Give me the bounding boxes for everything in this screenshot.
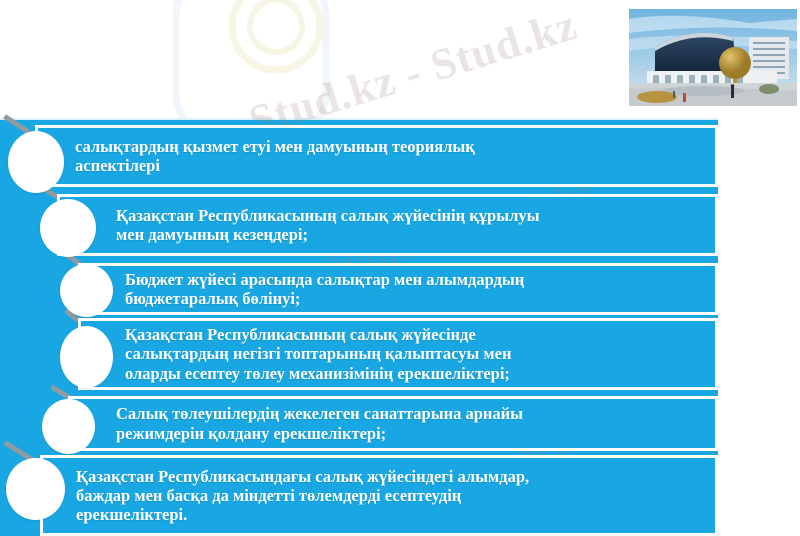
list-item[interactable]: Қазақстан Республикасының салық жүйесіні…	[57, 194, 718, 256]
list-item-line: Қазақстан Республикасындағы салық жүйесі…	[76, 467, 529, 486]
list-item-line: бюджетаралық бөлінуі;	[125, 289, 524, 308]
bullet-circle	[60, 326, 113, 388]
list-item-line: баждар мен басқа да міндетті төлемдерді …	[76, 486, 529, 505]
bullet-circle	[8, 131, 64, 193]
list-item-text: Қазақстан Республикасының салық жүйесінд…	[81, 325, 522, 382]
list-item-text: Бюджет жүйесі арасында салықтар мен алым…	[81, 270, 536, 308]
bullet-circle	[40, 199, 96, 257]
list-item-line: режимдерін қолдану ерекшеліктері;	[116, 424, 523, 443]
list-item-line: аспектілері	[75, 156, 160, 175]
slide-canvas: Stud.kz - Stud.kz Stud.kz - Stud.kz Stud…	[0, 0, 800, 536]
list-item-line: салықтардың негізгі топтарының қалыптасу…	[125, 344, 512, 363]
list-item[interactable]: Салық төлеушілердің жекелеген санаттарын…	[68, 396, 718, 451]
list-item[interactable]: Қазақстан Республикасының салық жүйесінд…	[78, 318, 718, 390]
panel-top-rule	[0, 118, 718, 120]
bullet-circle	[60, 264, 113, 317]
list-item-line: Салық төлеушілердің жекелеген санаттарын…	[116, 404, 523, 423]
list-item-line: оларды есептеу төлеу механизімінің ерекш…	[125, 364, 512, 383]
list-item[interactable]: Бюджет жүйесі арасында салықтар мен алым…	[78, 263, 718, 315]
building-photo	[629, 9, 797, 106]
list-item[interactable]: Қазақстан Республикасындағы салық жүйесі…	[40, 455, 718, 536]
bullet-circle	[42, 399, 95, 454]
list-item-line: салықтардың қызмет етуі мен дамуының тео…	[75, 137, 475, 156]
list-item-line: Қазақстан Республикасының салық жүйесіні…	[116, 206, 539, 225]
list-item-line: мен дамуының кезеңдері;	[116, 225, 539, 244]
bullet-circle	[6, 458, 65, 520]
list-item-line: Бюджет жүйесі арасында салықтар мен алым…	[125, 270, 524, 289]
list-item-line: ерекшеліктері.	[76, 505, 529, 524]
list-item-text: Салық төлеушілердің жекелеген санаттарын…	[71, 404, 535, 442]
list-item-text: Қазақстан Республикасындағы салық жүйесі…	[43, 467, 541, 524]
list-item-line: Қазақстан Республикасының салық жүйесінд…	[125, 325, 512, 344]
list-item-text: Қазақстан Республикасының салық жүйесіні…	[60, 206, 551, 244]
list-item-text: салықтардың қызмет етуі мен дамуының тео…	[38, 137, 485, 175]
list-item[interactable]: салықтардың қызмет етуі мен дамуының тео…	[35, 125, 718, 187]
